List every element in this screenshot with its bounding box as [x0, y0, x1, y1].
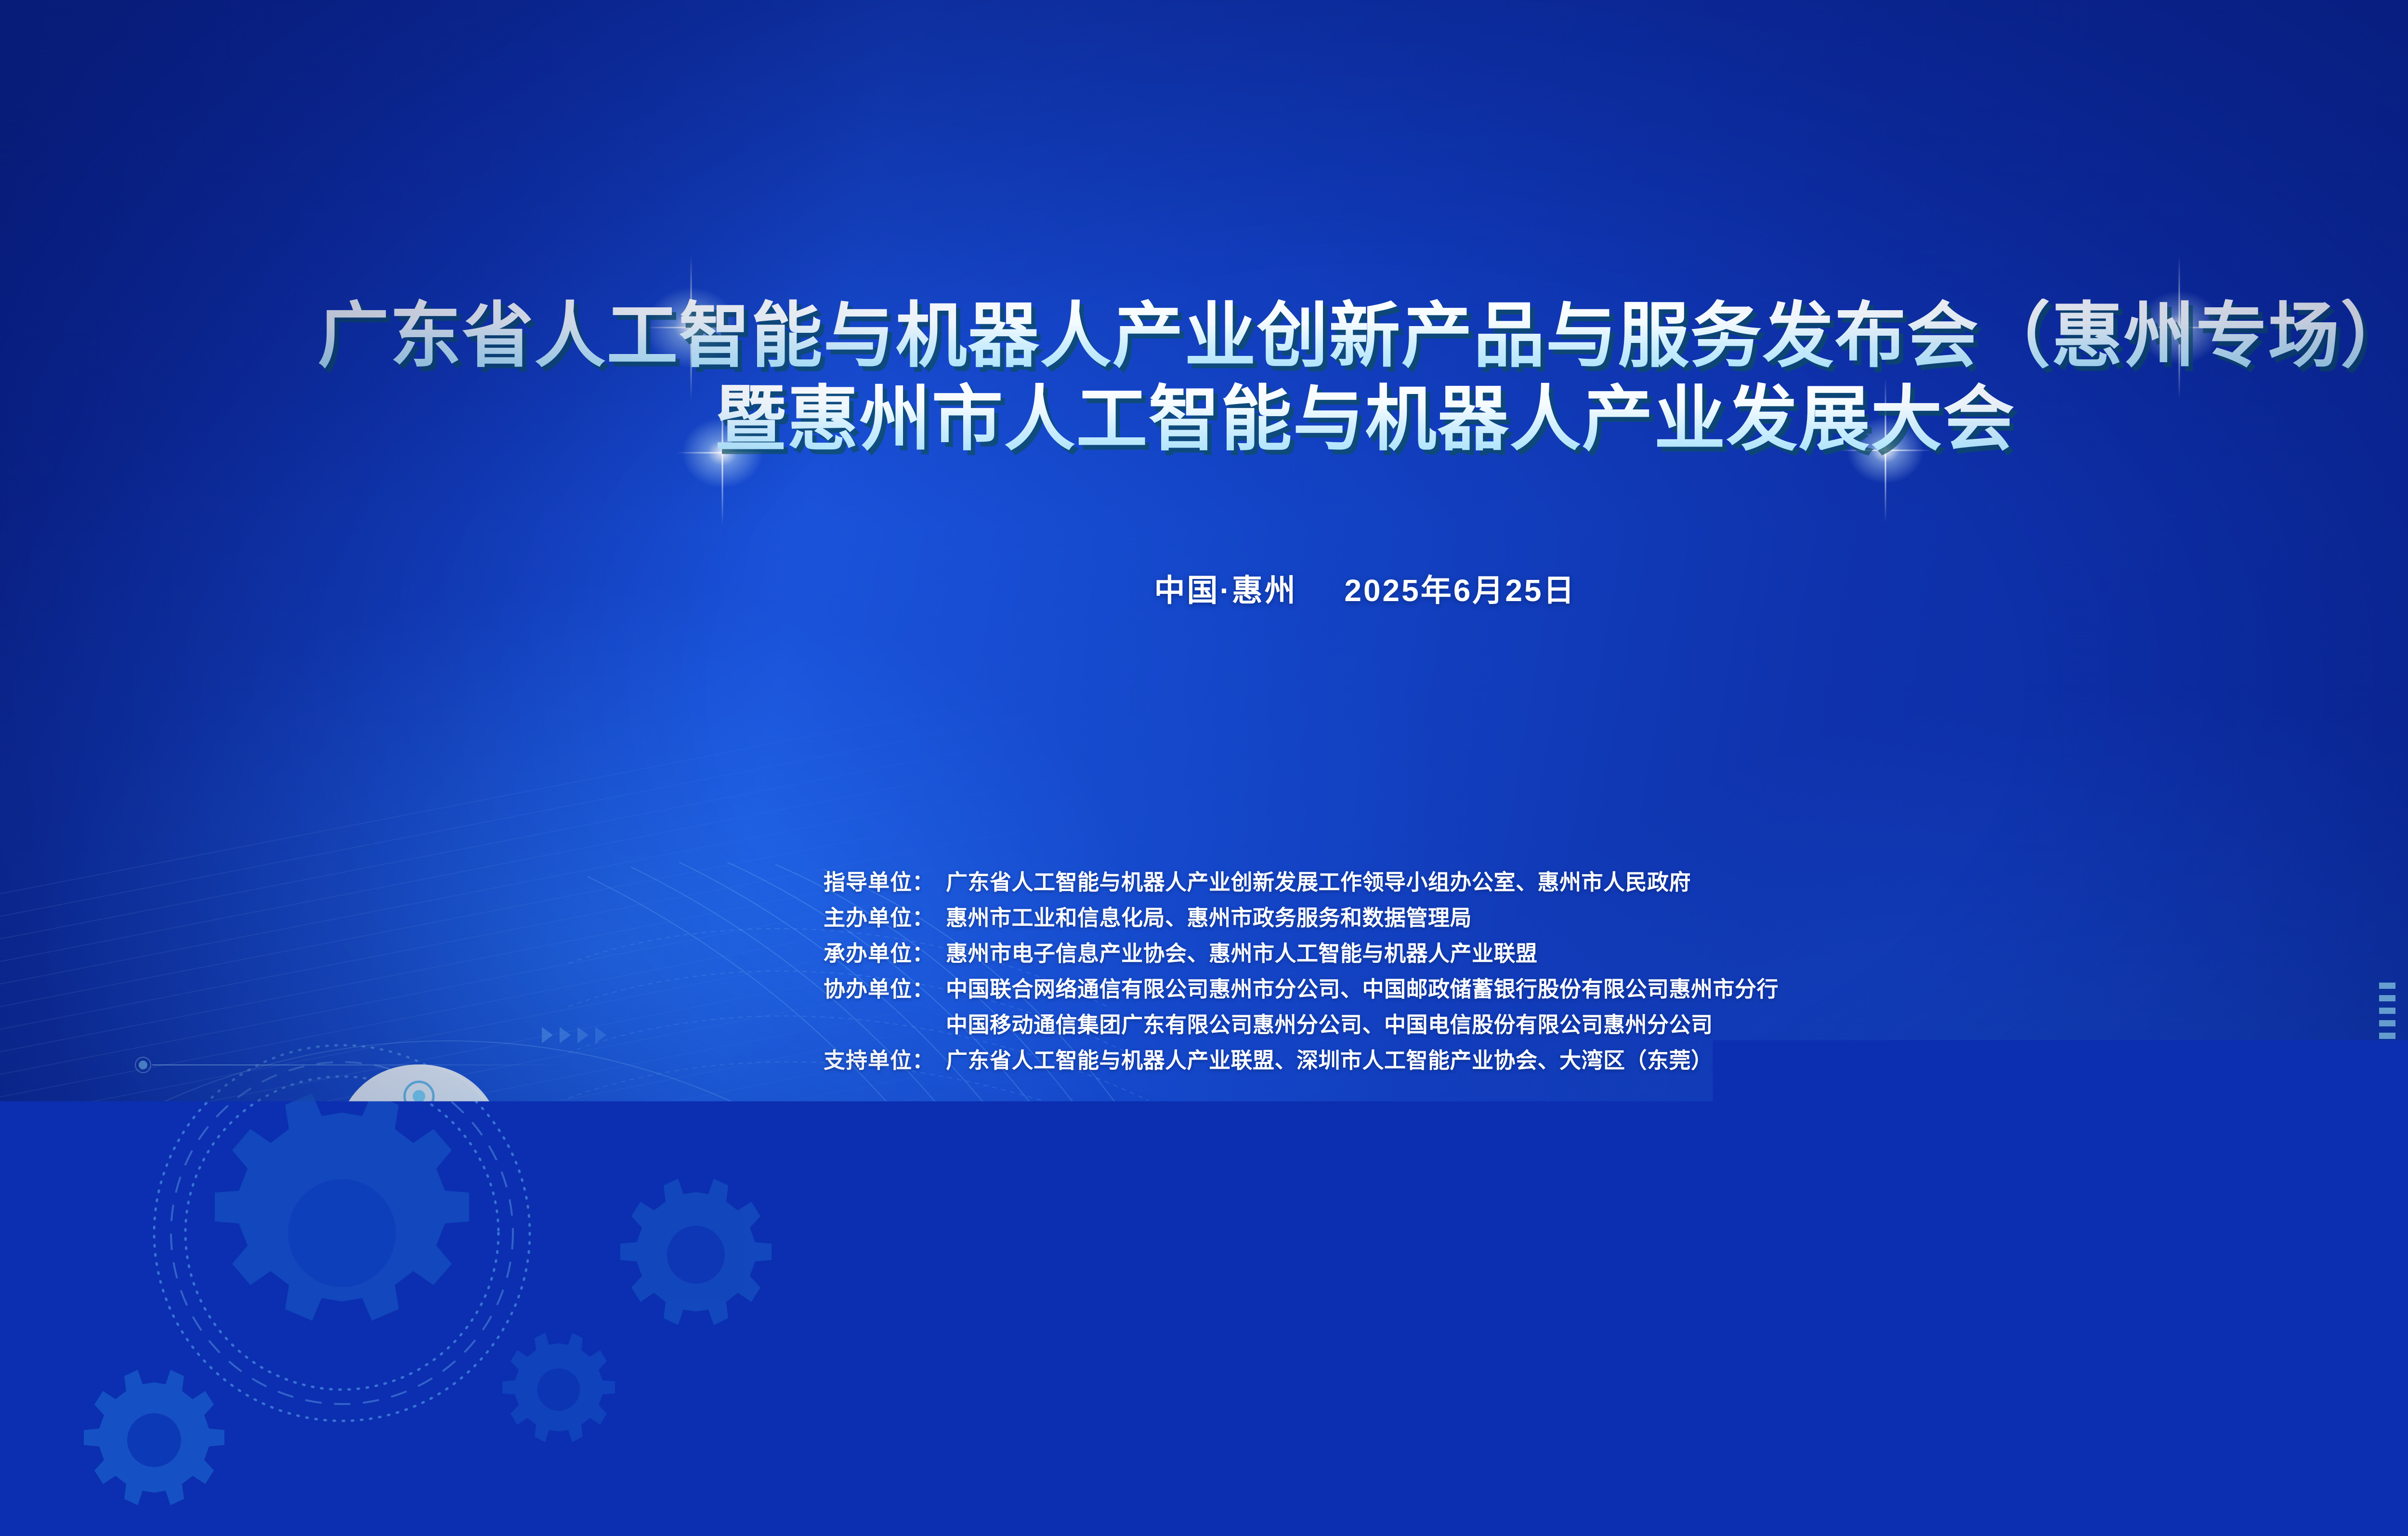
conference-banner: 广东省人工智能与机器人产业创新产品与服务发布会（惠州专场） 暨惠州市人工智能与机…	[0, 0, 2408, 1536]
background-vignette	[0, 0, 2408, 1536]
